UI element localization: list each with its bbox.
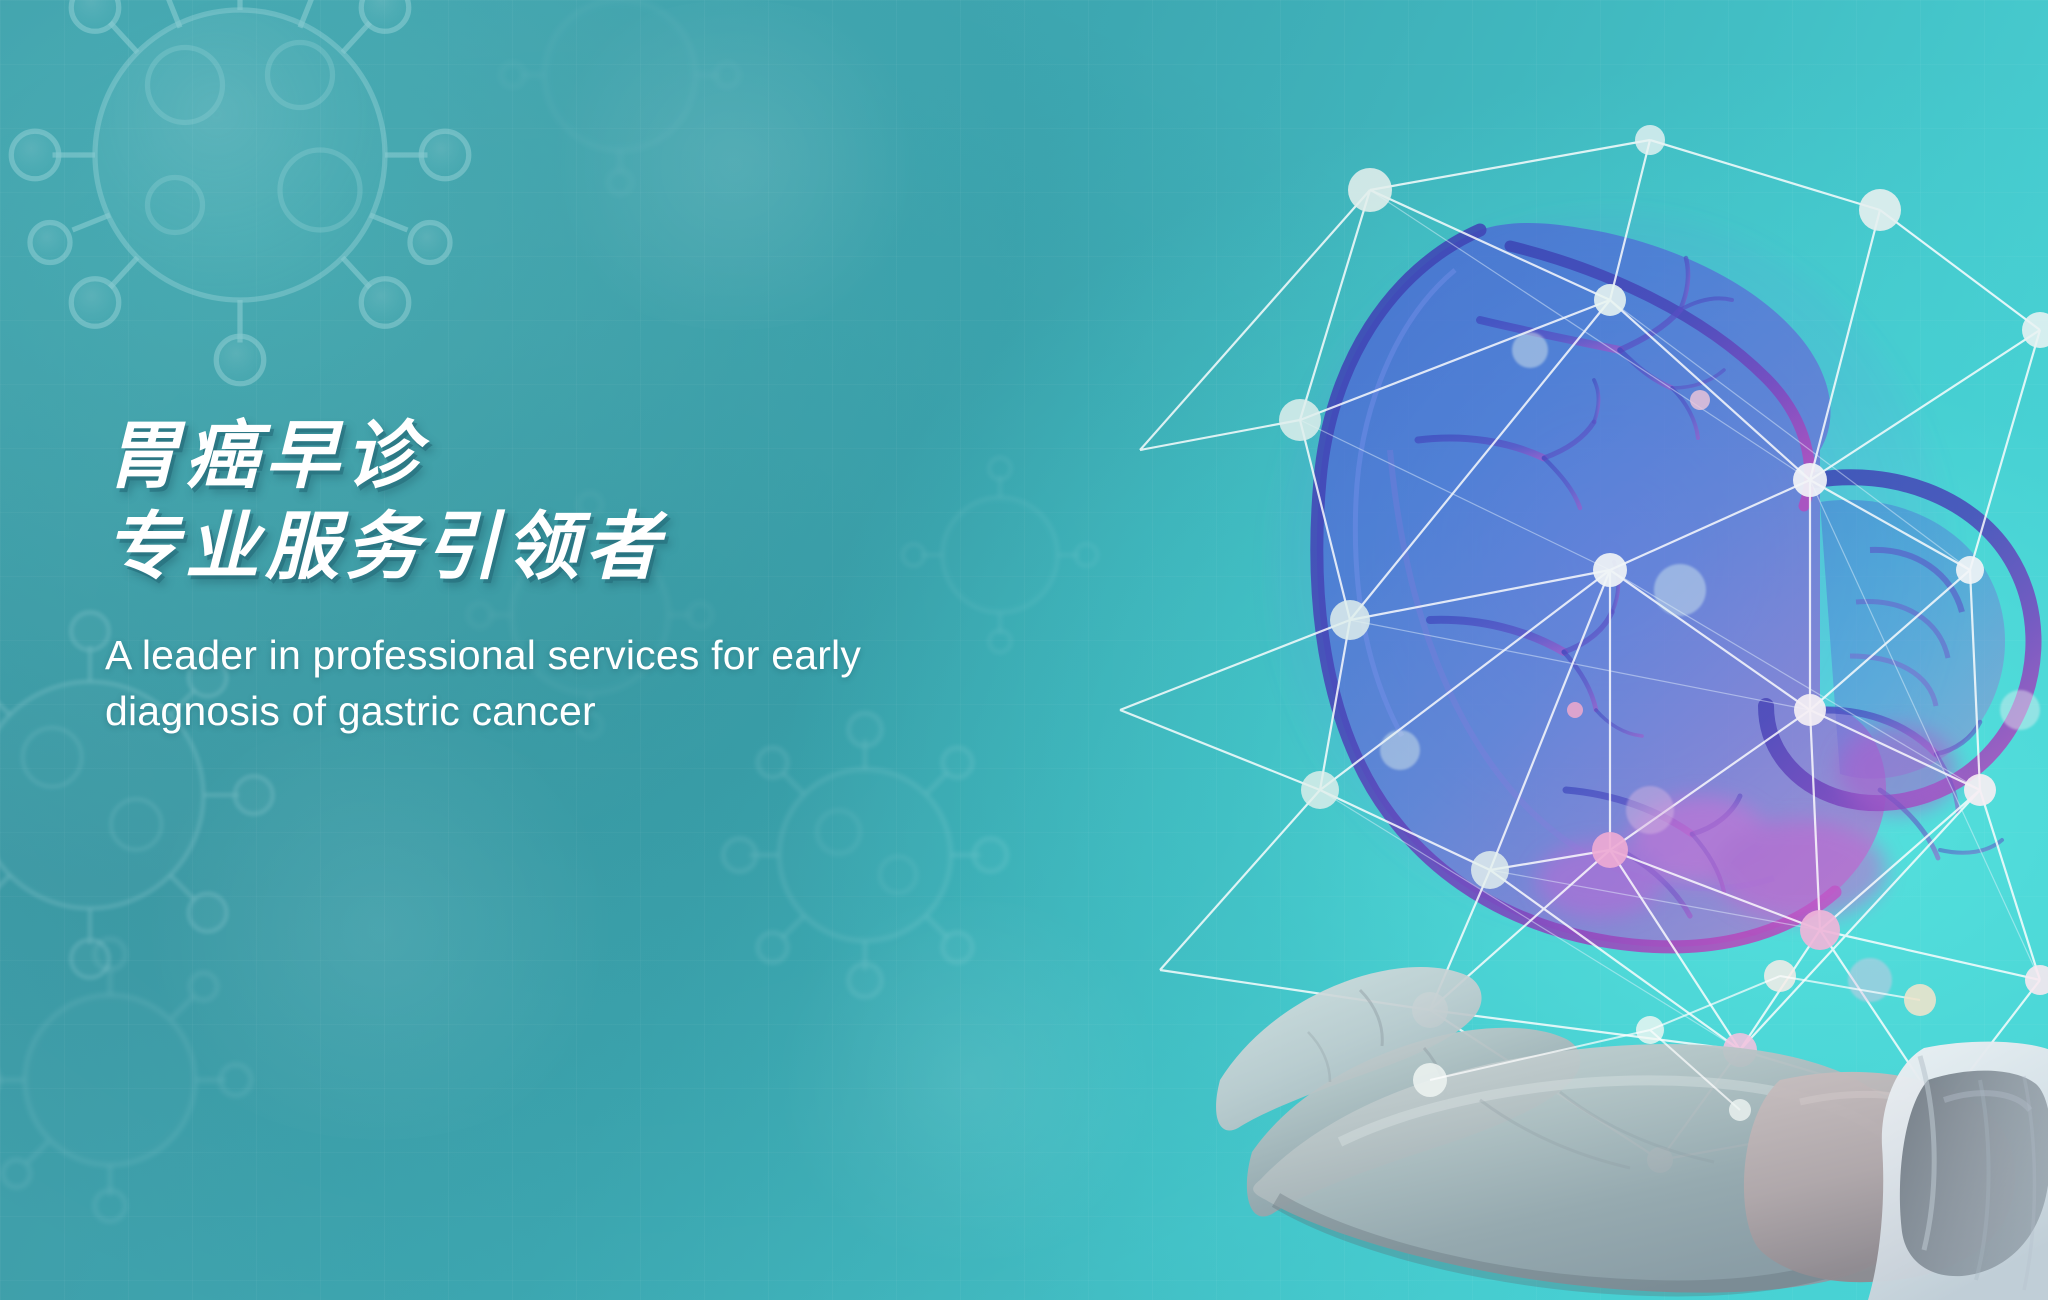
- network-node-glow: [1654, 564, 1706, 616]
- stomach-vasculature: [1418, 258, 2002, 916]
- network-node: [1956, 556, 1984, 584]
- hand-wrist: [1744, 1072, 2015, 1282]
- network-node-accent: [1690, 390, 1710, 410]
- stomach-network-illustration: [1180, 150, 2048, 1300]
- network-node: [1793, 463, 1827, 497]
- network-node-group-over-hand: [1413, 960, 1936, 1121]
- network-node-accent: [1925, 1095, 1955, 1125]
- stomach-shape: [1317, 223, 1886, 947]
- virus-cell-icon: [0, 890, 280, 1270]
- lab-coat-sleeve: [1868, 1042, 2048, 1300]
- network-node-glow: [1460, 1090, 1500, 1130]
- network-node-accent: [1567, 702, 1583, 718]
- network-node-accent: [1592, 832, 1628, 868]
- network-node-glow: [2000, 690, 2040, 730]
- network-node-group: [1279, 125, 2048, 1173]
- network-node: [1635, 125, 1665, 155]
- network-node-accent: [1800, 910, 1840, 950]
- network-node: [1636, 1016, 1664, 1044]
- network-node: [1330, 600, 1370, 640]
- network-node: [1412, 992, 1448, 1028]
- page-title-line-2: 专业服务引领者: [105, 506, 1155, 589]
- network-node: [1471, 851, 1509, 889]
- network-node: [1794, 694, 1826, 726]
- hand-fingers: [1216, 967, 1580, 1217]
- stomach-highlight-patches: [1536, 726, 1958, 920]
- banner-root: 胃癌早诊 专业服务引领者 A leader in professional se…: [0, 0, 2048, 1300]
- network-node-glow: [1848, 958, 1892, 1002]
- subtitle-line-2: diagnosis of gastric cancer: [105, 683, 1115, 740]
- virus-cell-icon: [0, 0, 520, 410]
- page-title-line-1: 胃癌早诊: [105, 415, 1155, 498]
- network-node-glow: [1380, 730, 1420, 770]
- network-node: [1279, 399, 1321, 441]
- duodenum-shape: [1766, 477, 2033, 803]
- network-node: [1859, 189, 1901, 231]
- network-mesh-lines-secondary: [1300, 190, 2040, 1050]
- network-node: [1593, 553, 1627, 587]
- glow-blob-top: [520, 0, 950, 330]
- network-node: [1594, 284, 1626, 316]
- hand-illustration: [1180, 780, 2048, 1300]
- network-node: [1413, 1063, 1447, 1097]
- subtitle-line-1: A leader in professional services for ea…: [105, 627, 1115, 684]
- network-node: [1729, 1099, 1751, 1121]
- network-node: [1301, 771, 1339, 809]
- network-node-accent: [1723, 1033, 1757, 1067]
- network-node: [1348, 168, 1392, 212]
- virus-cell-icon: [470, 0, 770, 220]
- network-node-accent: [1904, 984, 1936, 1016]
- network-node-accent: [1764, 960, 1796, 992]
- network-node: [1647, 1147, 1673, 1173]
- glow-blob-bottom-left: [120, 720, 640, 1140]
- subtitle-block: A leader in professional services for ea…: [105, 627, 1115, 740]
- glow-blob-bottom-center: [760, 900, 1180, 1260]
- network-node: [1964, 774, 1996, 806]
- hand-palm: [1253, 1044, 1926, 1293]
- network-node-glow: [1512, 332, 1548, 368]
- network-node: [2025, 965, 2048, 995]
- network-node-glow: [1626, 786, 1674, 834]
- network-mesh-lines: [1120, 140, 2040, 1160]
- network-node: [2022, 312, 2048, 348]
- headline-block: 胃癌早诊 专业服务引领者 A leader in professional se…: [105, 415, 1155, 740]
